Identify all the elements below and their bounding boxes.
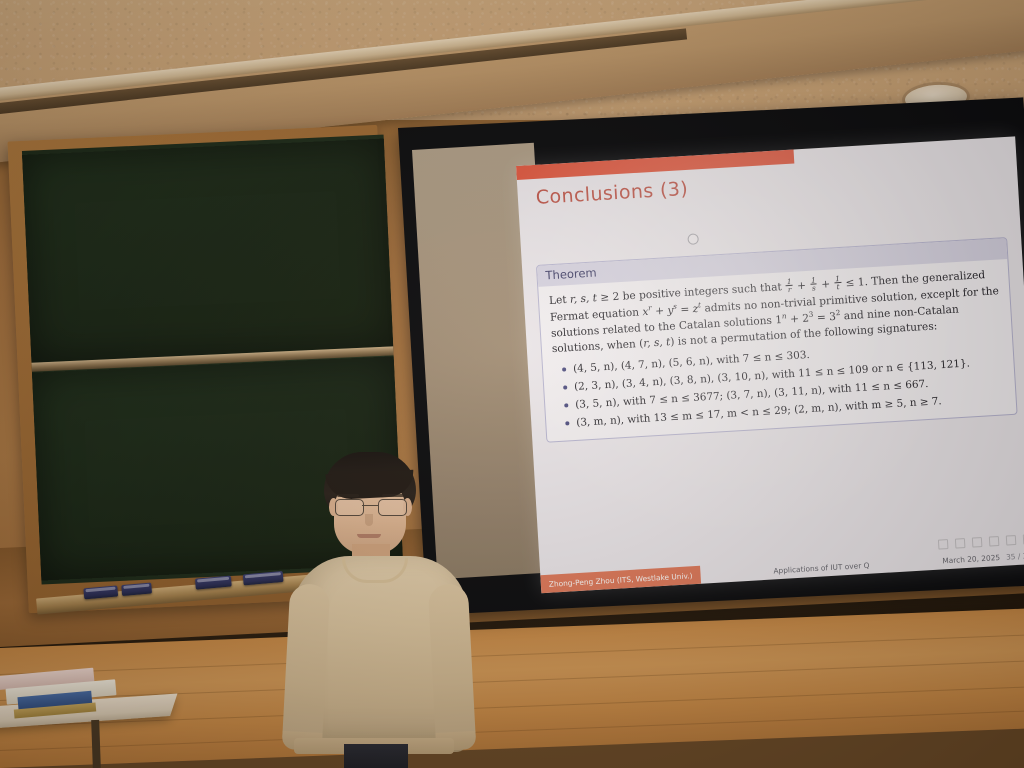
fraction-1-r: 1r xyxy=(786,278,794,294)
nav-back-icon[interactable] xyxy=(972,537,983,548)
thm-plus2: + xyxy=(818,278,834,291)
lecture-hall-photo: Conclusions (3) Theorem Let r, s, t ≥ 2 … xyxy=(0,0,1024,768)
mouse-cursor-icon xyxy=(687,233,699,245)
mouth xyxy=(357,534,381,538)
chalkboard-eraser xyxy=(243,571,284,585)
footer-date: March 20, 2025 xyxy=(942,552,1006,565)
nose xyxy=(365,514,373,526)
presentation-slide: Conclusions (3) Theorem Let r, s, t ≥ 2 … xyxy=(516,136,1024,593)
blackboard-panel-upper xyxy=(22,139,393,363)
glasses-bridge xyxy=(362,505,378,506)
catalan-plus: + xyxy=(786,313,802,326)
chalkboard-eraser xyxy=(83,585,118,599)
thm-vars: r, s, t xyxy=(570,292,598,306)
chalkboard-eraser xyxy=(121,583,152,597)
nav-forward-icon[interactable] xyxy=(989,536,1000,547)
trousers xyxy=(344,744,408,768)
glasses-lens-right xyxy=(378,499,407,516)
thm-plus1: + xyxy=(793,279,809,292)
nav-first-icon[interactable] xyxy=(938,539,949,550)
glasses-lens-left xyxy=(335,499,364,516)
fraction-1-t: 1t xyxy=(834,275,842,291)
nav-next-icon[interactable] xyxy=(1006,535,1017,546)
theorem-body: Let r, s, t ≥ 2 be positive integers suc… xyxy=(538,259,1016,441)
slide-title: Conclusions (3) xyxy=(535,178,688,209)
eq-plus: + xyxy=(651,305,667,318)
thm-triple: r, s, t xyxy=(643,336,671,350)
table-leg xyxy=(91,720,101,768)
footer-page-number: 35 / 36 xyxy=(1006,550,1024,561)
thm-t1: Let xyxy=(549,294,571,307)
eyebrow-right xyxy=(382,494,404,497)
catalan-eq: = xyxy=(813,311,829,324)
eq-equals: = xyxy=(677,303,693,316)
projection-screen: Conclusions (3) Theorem Let r, s, t ≥ 2 … xyxy=(398,128,1024,616)
glasses-icon xyxy=(334,499,406,514)
eyebrow-left xyxy=(337,494,359,497)
arm-right xyxy=(428,583,477,751)
presenter xyxy=(286,452,472,768)
chalkboard-eraser xyxy=(195,576,232,590)
nav-prev-icon[interactable] xyxy=(955,538,966,549)
theorem-box: Theorem Let r, s, t ≥ 2 be positive inte… xyxy=(536,237,1018,442)
